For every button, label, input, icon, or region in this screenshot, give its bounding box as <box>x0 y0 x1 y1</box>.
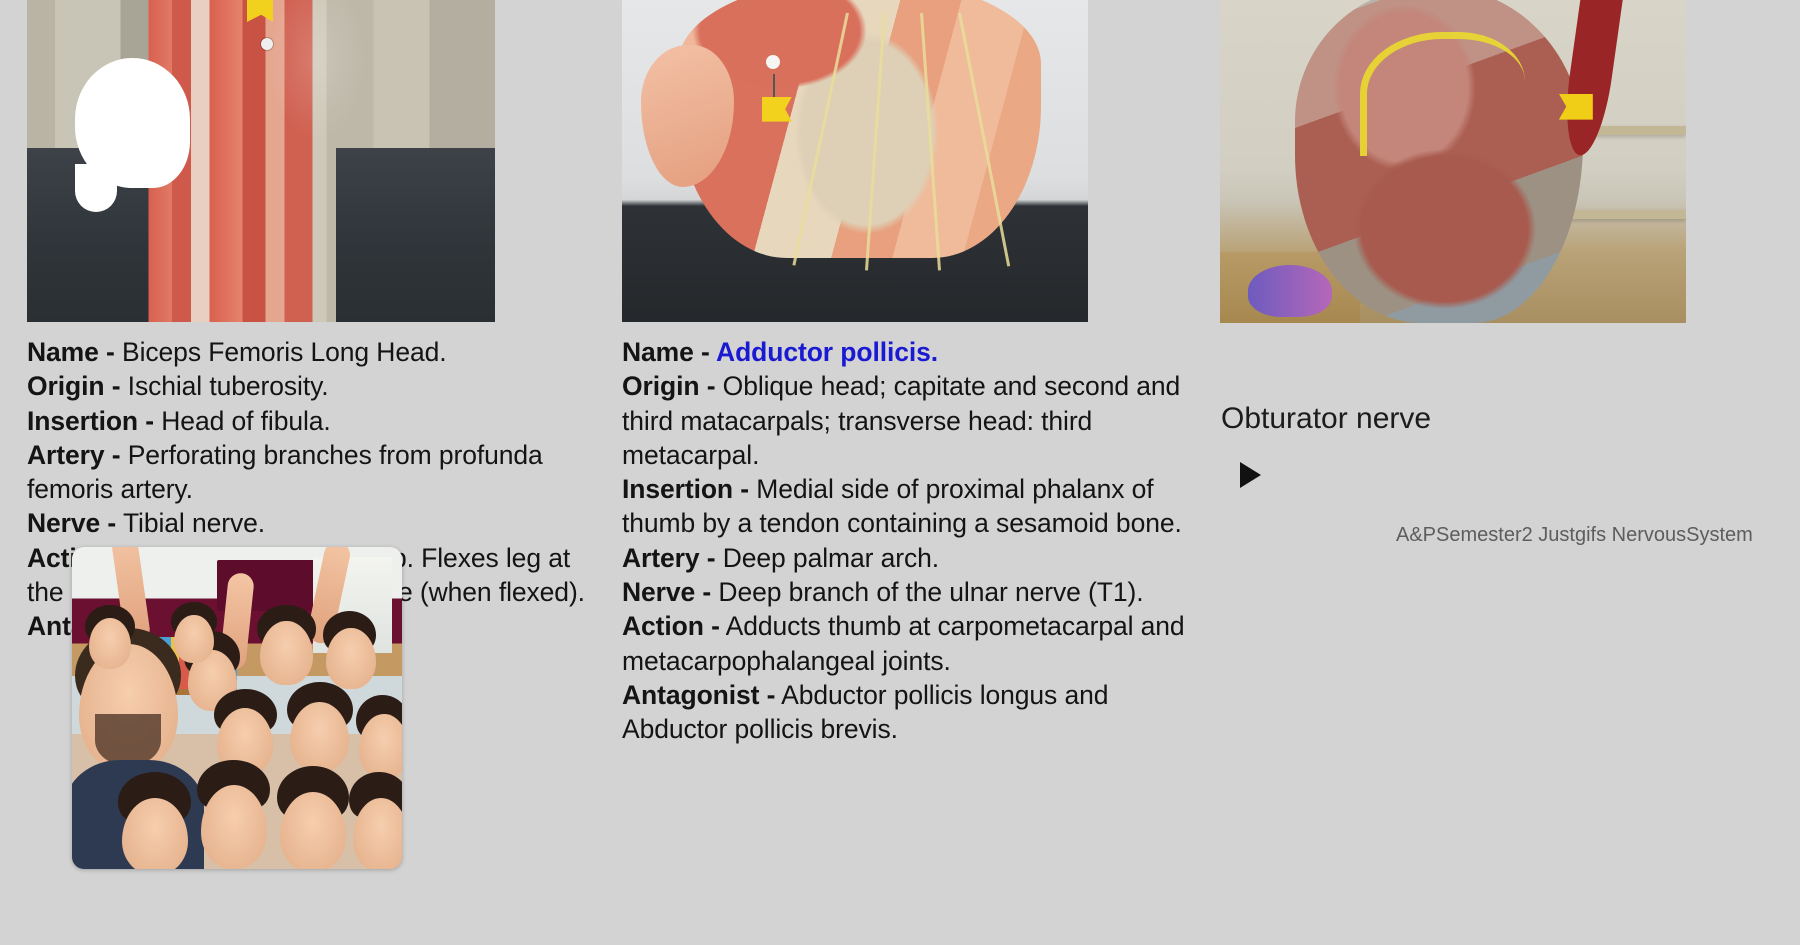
field-row-origin: Origin - Oblique head; capitate and seco… <box>622 369 1202 472</box>
field-row-name: Name - Adductor pollicis. <box>622 335 1202 369</box>
field-row-antagonist: Antagonist - Abductor pollicis longus an… <box>622 678 1202 747</box>
adult-beard <box>95 714 161 766</box>
hand-muscle-model-photo <box>622 0 1088 322</box>
field-label: Origin - <box>27 371 120 401</box>
field-label: Nerve - <box>27 508 116 538</box>
field-value: Head of fibula. <box>154 406 331 436</box>
child-face <box>260 621 313 685</box>
field-label: Insertion - <box>27 406 154 436</box>
child-face <box>122 798 188 869</box>
tag-list[interactable]: A&PSemester2 Justgifs NervousSystem <box>1396 523 1753 547</box>
field-label: Origin - <box>622 371 715 401</box>
card-image-pelvis[interactable] <box>1220 0 1686 323</box>
play-triangle-icon[interactable] <box>1240 462 1261 488</box>
nerve-highlight <box>1360 32 1525 155</box>
field-row-insertion: Insertion - Medial side of proximal phal… <box>622 472 1202 541</box>
anatomy-card-adductor-pollicis: Name - Adductor pollicis. Origin - Obliq… <box>622 0 1202 747</box>
card-image-biceps-femoris[interactable] <box>27 0 495 322</box>
child-face <box>174 615 214 663</box>
field-label: Nerve - <box>622 577 711 607</box>
field-row-artery: Artery - Deep palmar arch. <box>622 541 1202 575</box>
pelvis-model-photo <box>1220 0 1686 323</box>
field-row-origin: Origin - Ischial tuberosity. <box>27 369 607 403</box>
pin-marker-icon <box>261 38 273 50</box>
child-face <box>359 714 402 778</box>
field-label: Antagonist - <box>622 680 775 710</box>
field-label: Name - <box>27 337 115 367</box>
field-label: Name - <box>622 337 710 367</box>
yellow-flag-marker-icon <box>247 0 273 22</box>
field-label: Action - <box>622 611 720 641</box>
child-face <box>326 628 376 689</box>
child-face <box>201 785 267 869</box>
field-value-highlighted: Adductor pollicis. <box>710 337 938 367</box>
field-row-artery: Artery - Perforating branches from profu… <box>27 438 607 507</box>
field-row-nerve: Nerve - Tibial nerve. <box>27 506 607 540</box>
field-row-action: Action - Adducts thumb at carpometacarpa… <box>622 609 1202 678</box>
field-label: Artery - <box>622 543 715 573</box>
field-row-nerve: Nerve - Deep branch of the ulnar nerve (… <box>622 575 1202 609</box>
field-value: Tibial nerve. <box>116 508 265 538</box>
anatomy-card-obturator-nerve <box>1220 0 1690 323</box>
field-value: Biceps Femoris Long Head. <box>115 337 447 367</box>
page-root: Name - Biceps Femoris Long Head. Origin … <box>0 0 1800 945</box>
field-value: Ischial tuberosity. <box>120 371 328 401</box>
child-face <box>89 618 132 670</box>
card-text-adductor-pollicis: Name - Adductor pollicis. Origin - Obliq… <box>622 335 1202 747</box>
overlay-photo-classroom-selfie[interactable] <box>72 547 402 869</box>
patreon-logo-icon <box>75 58 190 188</box>
page-title-obturator-nerve: Obturator nerve <box>1221 401 1431 437</box>
card-image-adductor-pollicis[interactable] <box>622 0 1088 322</box>
field-value: Deep branch of the ulnar nerve (T1). <box>711 577 1143 607</box>
blue-vessel-model <box>1248 265 1332 317</box>
field-value: Deep palmar arch. <box>715 543 939 573</box>
field-label: Artery - <box>27 440 120 470</box>
field-row-name: Name - Biceps Femoris Long Head. <box>27 335 607 369</box>
field-label: Insertion - <box>622 474 749 504</box>
field-row-insertion: Insertion - Head of fibula. <box>27 404 607 438</box>
palm-region <box>678 0 1041 258</box>
